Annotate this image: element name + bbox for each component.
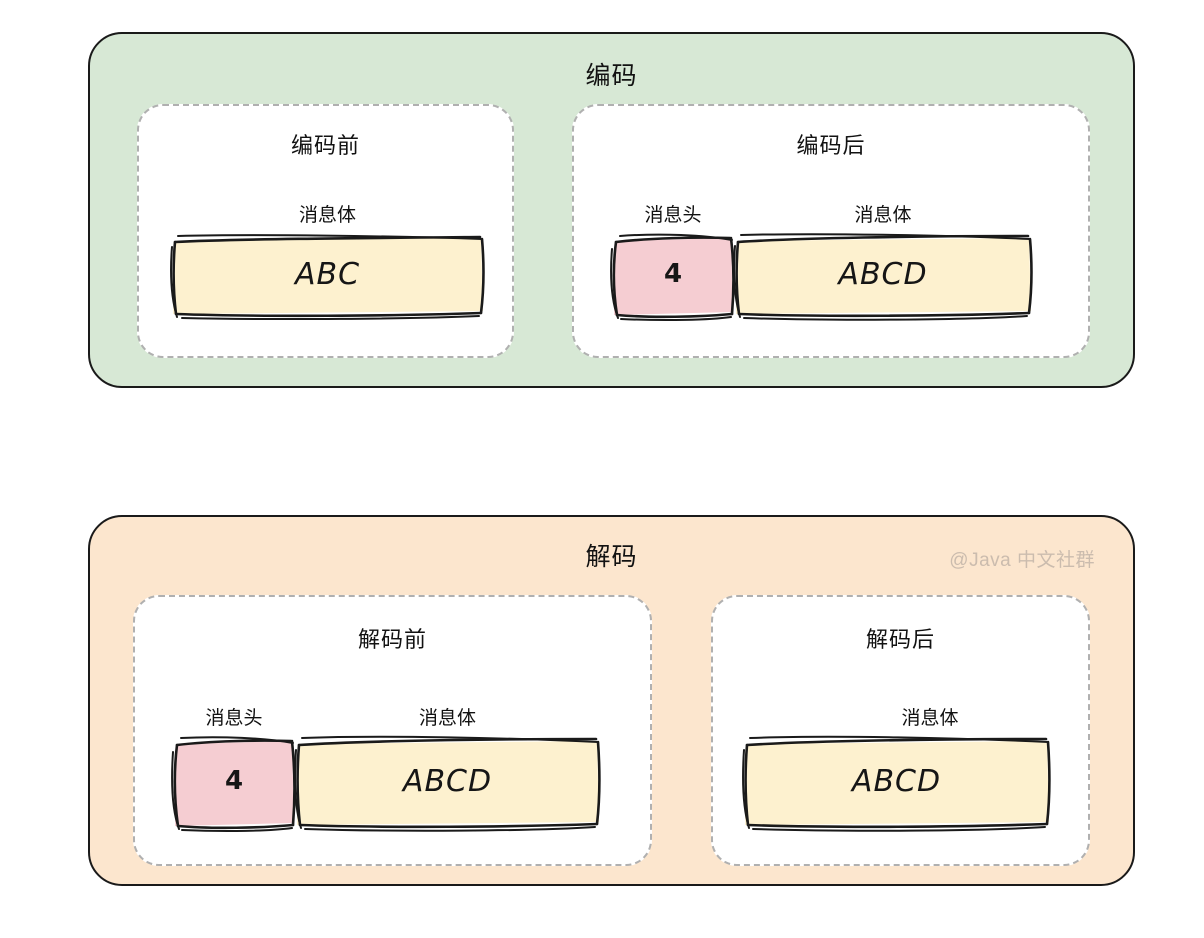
panel-before-decode: 解码前 消息头 4 bbox=[133, 595, 652, 866]
watermark: @Java 中文社群 bbox=[949, 545, 1095, 572]
message-header-box: 4 bbox=[173, 737, 295, 825]
message-header-group: 消息头 4 bbox=[612, 234, 734, 314]
message-row-before-decode: 消息头 4 消息体 bbox=[173, 737, 600, 825]
section-decode: 解码 @Java 中文社群 解码前 消息头 bbox=[88, 515, 1135, 886]
message-row-after-encode: 消息头 4 消息体 bbox=[612, 234, 1032, 314]
panel-title-after-encode: 编码后 bbox=[574, 128, 1088, 160]
message-body-value: ABCD bbox=[403, 764, 492, 799]
message-body-box: ABC bbox=[171, 234, 484, 314]
message-row-after-decode: 消息体 ABCD bbox=[743, 737, 1050, 825]
message-body-group: 消息体 ABC bbox=[171, 234, 484, 314]
panel-title-before-encode: 编码前 bbox=[139, 128, 512, 160]
message-header-value: 4 bbox=[225, 766, 243, 796]
message-body-group: 消息体 ABCD bbox=[734, 234, 1032, 314]
message-header-label: 消息头 bbox=[612, 200, 734, 227]
message-body-box: ABCD bbox=[295, 737, 600, 825]
message-body-box: ABCD bbox=[743, 737, 1050, 825]
message-header-box: 4 bbox=[612, 234, 734, 314]
message-body-group: 消息体 ABCD bbox=[743, 737, 1050, 825]
panel-title-after-decode: 解码后 bbox=[713, 622, 1088, 654]
panel-after-decode: 解码后 消息体 ABCD bbox=[711, 595, 1090, 866]
section-encode: 编码 编码前 消息体 ABC bbox=[88, 32, 1135, 388]
panel-title-before-decode: 解码前 bbox=[135, 622, 650, 654]
message-body-label: 消息体 bbox=[734, 200, 1032, 227]
message-body-group: 消息体 ABCD bbox=[295, 737, 600, 825]
message-header-label: 消息头 bbox=[173, 703, 295, 730]
message-body-value: ABC bbox=[295, 257, 360, 292]
message-header-value: 4 bbox=[664, 259, 682, 289]
panel-after-encode: 编码后 消息头 4 bbox=[572, 104, 1090, 358]
section-title-encode: 编码 bbox=[90, 56, 1133, 92]
message-row-before-encode: 消息体 ABC bbox=[171, 234, 484, 314]
message-body-box: ABCD bbox=[734, 234, 1032, 314]
message-body-label: 消息体 bbox=[171, 200, 484, 227]
message-body-label: 消息体 bbox=[810, 703, 1050, 730]
panel-before-encode: 编码前 消息体 ABC bbox=[137, 104, 514, 358]
message-header-group: 消息头 4 bbox=[173, 737, 295, 825]
message-body-value: ABCD bbox=[838, 257, 927, 292]
message-body-label: 消息体 bbox=[295, 703, 600, 730]
message-body-value: ABCD bbox=[852, 764, 941, 799]
